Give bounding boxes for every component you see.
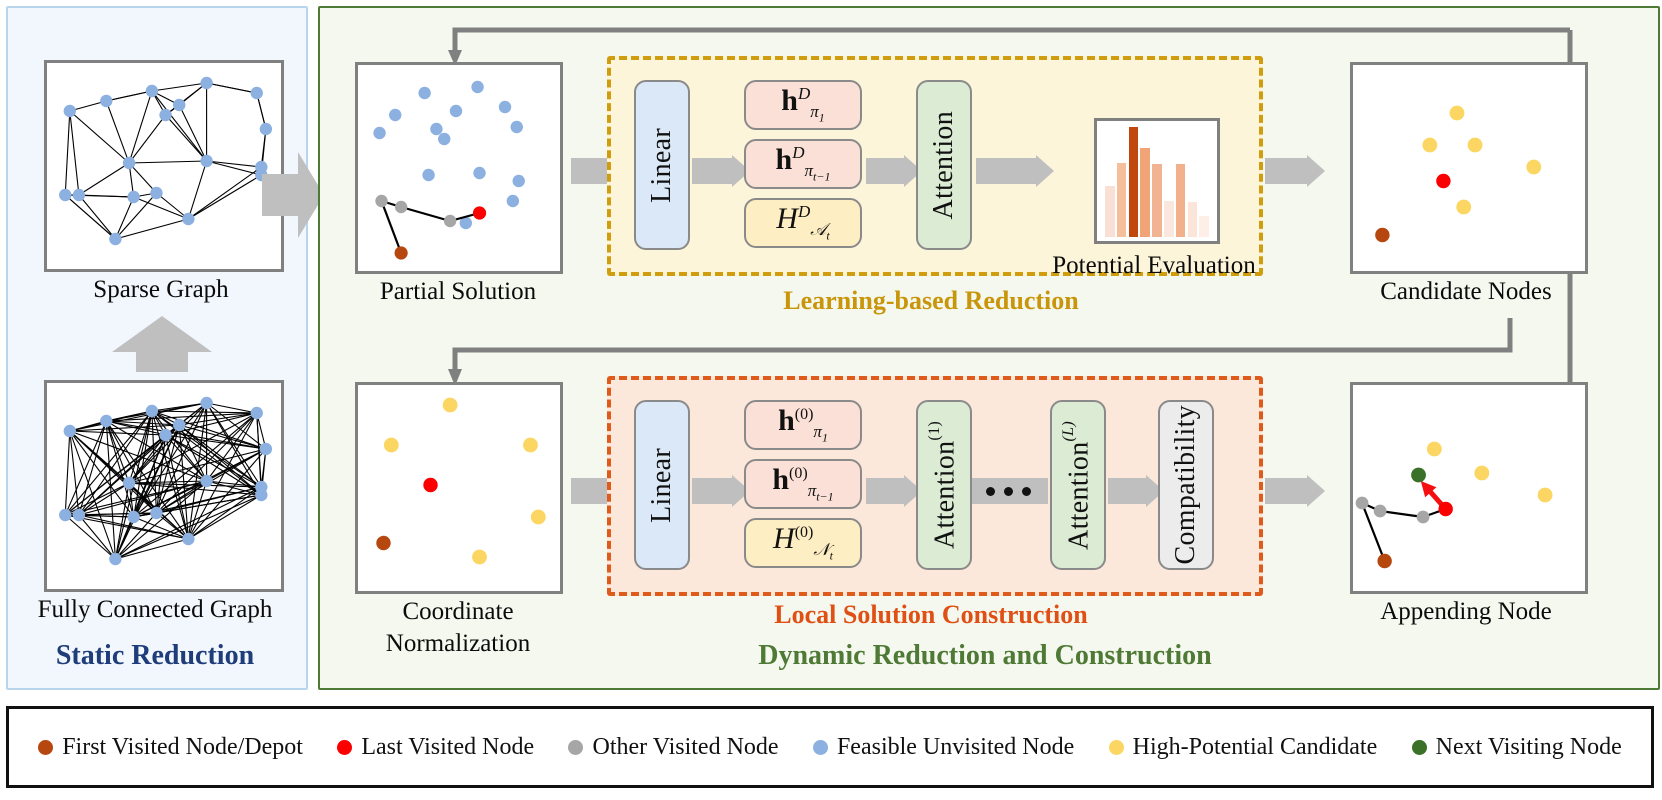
appending-node-caption: Appending Node [1330, 598, 1602, 625]
legend-item: Last Visited Node [337, 734, 534, 761]
arrow-compatibility-to-append [1265, 478, 1307, 504]
legend-color-dot [813, 740, 828, 755]
potential-bar [1105, 186, 1115, 237]
candidate-nodes-svg [1353, 65, 1579, 265]
legend-color-dot [568, 740, 583, 755]
embedding-label-H-Nt-bottom: H(0)𝒩t [773, 522, 833, 563]
candidate-nodes-caption: Candidate Nodes [1330, 278, 1602, 305]
attention-module-first[interactable]: Attention(1) [916, 400, 972, 570]
legend-color-dot [1109, 740, 1124, 755]
legend-item: First Visited Node/Depot [38, 734, 303, 761]
embedding-box-H-Nt-bottom: H(0)𝒩t [744, 518, 862, 568]
attention-module-last[interactable]: Attention(L) [1050, 400, 1106, 570]
arrow-linear-to-embeddings-bottom [692, 478, 732, 504]
compatibility-module[interactable]: Compatibility [1158, 400, 1214, 570]
attention-module-top-label: Attention [928, 111, 960, 219]
coordinate-normalization-svg [358, 385, 554, 585]
partial-solution-caption: Partial Solution [340, 278, 576, 305]
attention-module-first-label: Attention(1) [926, 421, 961, 549]
legend-item: Other Visited Node [568, 734, 778, 761]
legend-label: First Visited Node/Depot [62, 734, 303, 761]
appending-node-svg [1353, 385, 1579, 585]
coordinate-normalization-caption-line2: Normalization [340, 630, 576, 657]
embedding-box-H-At-top: HD𝒜t [744, 198, 862, 248]
potential-bar [1188, 202, 1198, 237]
coordinate-normalization-plot [355, 382, 563, 594]
embedding-label-H-At-top: HD𝒜t [776, 202, 829, 243]
arrow-linear-to-embeddings-top [692, 158, 732, 184]
potential-evaluation-bars [1105, 127, 1209, 237]
legend-color-dot [1412, 740, 1427, 755]
arrow-embeddings-to-attention1-bottom [866, 478, 904, 504]
linear-module-top-label: Linear [646, 128, 678, 203]
embedding-label-h-pit1-bottom: h(0)πt−1 [772, 463, 833, 504]
potential-bar [1129, 127, 1139, 237]
embedding-box-h-pi1-bottom: h(0)π1 [744, 400, 862, 450]
partial-solution-plot [355, 62, 563, 274]
legend-label: Last Visited Node [361, 734, 534, 761]
legend-label: Next Visiting Node [1436, 734, 1622, 761]
legend-label: Other Visited Node [592, 734, 778, 761]
legend-label: High-Potential Candidate [1133, 734, 1378, 761]
appending-node-plot [1350, 382, 1588, 594]
potential-bar [1117, 163, 1127, 237]
partial-solution-svg [358, 65, 554, 265]
legend-bar: First Visited Node/DepotLast Visited Nod… [6, 706, 1654, 788]
coordinate-normalization-caption-line1: Coordinate [340, 598, 576, 625]
embedding-label-h-pit1-top: hDπt−1 [776, 143, 831, 184]
embedding-label-h-pi1-top: hDπ1 [781, 84, 825, 125]
potential-bar [1199, 216, 1209, 237]
legend-item: High-Potential Candidate [1109, 734, 1378, 761]
arrow-attention-to-compatibility [1108, 478, 1146, 504]
diagram-root: Sparse Graph Fully Connected Graph Stati… [0, 0, 1662, 800]
local-solution-construction-title: Local Solution Construction [607, 600, 1255, 630]
legend-label: Feasible Unvisited Node [837, 734, 1074, 761]
linear-module-top[interactable]: Linear [634, 80, 690, 250]
arrow-chart-to-candidates [1265, 158, 1307, 184]
embedding-box-h-pit1-bottom: h(0)πt−1 [744, 459, 862, 509]
ellipsis-dots [986, 487, 1031, 496]
candidate-nodes-plot [1350, 62, 1588, 274]
linear-module-bottom-label: Linear [646, 448, 678, 523]
compatibility-module-label: Compatibility [1170, 405, 1202, 564]
attention-module-last-label: Attention(L) [1060, 421, 1095, 550]
embedding-box-h-pit1-top: hDπt−1 [744, 139, 862, 189]
linear-module-bottom[interactable]: Linear [634, 400, 690, 570]
legend-color-dot [337, 740, 352, 755]
embedding-box-h-pi1-top: hDπ1 [744, 80, 862, 130]
embedding-label-h-pi1-bottom: h(0)π1 [778, 404, 828, 445]
legend-color-dot [38, 740, 53, 755]
attention-module-top[interactable]: Attention [916, 80, 972, 250]
potential-evaluation-chart [1094, 118, 1220, 244]
arrow-attention-to-chart-top [976, 158, 1036, 184]
learning-based-reduction-title: Learning-based Reduction [607, 286, 1255, 316]
potential-bar [1176, 164, 1186, 237]
arrow-embeddings-to-attention-top [866, 158, 904, 184]
legend-item: Feasible Unvisited Node [813, 734, 1074, 761]
potential-bar [1152, 164, 1162, 237]
legend-item: Next Visiting Node [1412, 734, 1622, 761]
potential-evaluation-caption: Potential Evaluation [1016, 252, 1292, 279]
potential-bar [1140, 148, 1150, 237]
potential-bar [1164, 201, 1174, 237]
